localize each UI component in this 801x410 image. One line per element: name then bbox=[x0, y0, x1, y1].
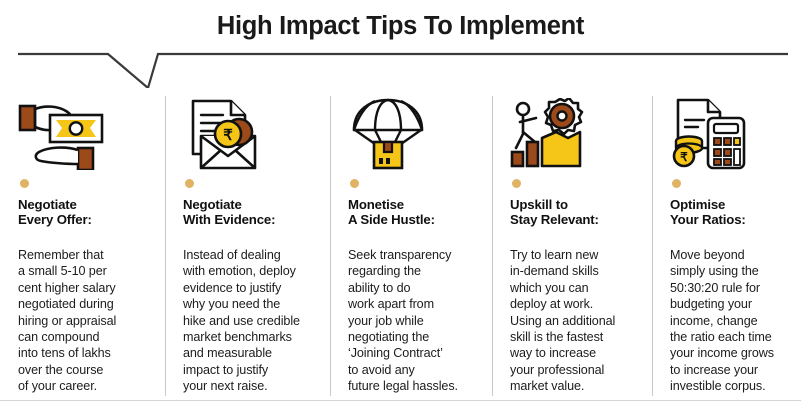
tips-columns: Negotiate Every Offer: Remember that a s… bbox=[0, 92, 801, 398]
column-divider bbox=[652, 96, 653, 396]
tip-column-optimise-ratios: ₹ Optimise Your Ratios: Move beyond simp… bbox=[652, 92, 801, 398]
tip-column-negotiate-every-offer: Negotiate Every Offer: Remember that a s… bbox=[0, 92, 165, 398]
calculator-coins-document-icon: ₹ bbox=[670, 92, 787, 168]
hand-giving-money-icon bbox=[18, 92, 151, 168]
svg-text:₹: ₹ bbox=[223, 127, 233, 144]
bullet-dot bbox=[20, 179, 29, 188]
tip-column-monetise-side-hustle: Monetise A Side Hustle: Seek transparenc… bbox=[330, 92, 492, 398]
tip-body: Remember that a small 5-10 per cent high… bbox=[18, 247, 151, 395]
bullet-dot bbox=[512, 179, 521, 188]
column-divider bbox=[492, 96, 493, 396]
column-divider bbox=[330, 96, 331, 396]
tip-body: Instead of dealing with emotion, deploy … bbox=[183, 247, 316, 395]
tip-heading: Upskill to Stay Relevant: bbox=[510, 197, 638, 227]
bullet-dot bbox=[672, 179, 681, 188]
tip-body: Try to learn new in-demand skills which … bbox=[510, 247, 638, 395]
header: High Impact Tips To Implement bbox=[0, 0, 801, 52]
svg-text:₹: ₹ bbox=[680, 150, 688, 164]
tip-heading: Negotiate Every Offer: bbox=[18, 197, 151, 227]
person-climbing-bars-gear-icon bbox=[510, 92, 638, 168]
column-divider bbox=[165, 96, 166, 396]
tip-body: Seek transparency regarding the ability … bbox=[348, 247, 478, 395]
document-envelope-rupee-icon: ₹ bbox=[183, 92, 316, 168]
tip-body: Move beyond simply using the 50:30:20 ru… bbox=[670, 247, 787, 395]
bullet-dot bbox=[350, 179, 359, 188]
tip-heading: Monetise A Side Hustle: bbox=[348, 197, 478, 227]
bottom-divider bbox=[0, 400, 801, 401]
tip-heading: Optimise Your Ratios: bbox=[670, 197, 787, 227]
page-title: High Impact Tips To Implement bbox=[217, 12, 584, 41]
infographic-page: High Impact Tips To Implement bbox=[0, 0, 801, 410]
tip-heading: Negotiate With Evidence: bbox=[183, 197, 316, 227]
tip-column-upskill-stay-relevant: Upskill to Stay Relevant: Try to learn n… bbox=[492, 92, 652, 398]
bullet-dot bbox=[185, 179, 194, 188]
tip-column-negotiate-with-evidence: ₹ Negotiate With Evidence: Instead of de… bbox=[165, 92, 330, 398]
speech-bubble-tail bbox=[0, 48, 801, 88]
parachute-package-icon bbox=[348, 92, 478, 168]
